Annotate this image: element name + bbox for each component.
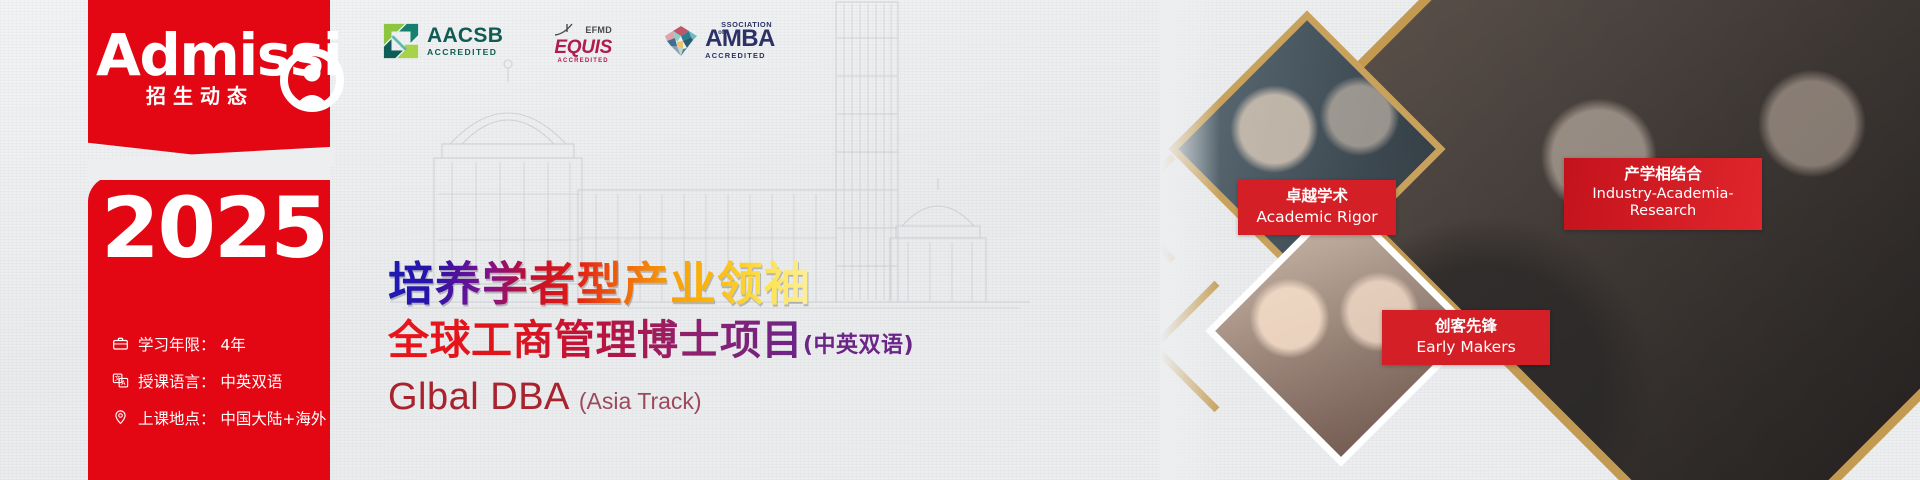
highlight-academic-rigor: 卓越学术 Academic Rigor (1238, 180, 1396, 235)
fact-location-text: 上课地点： 中国大陆+海外 (138, 407, 326, 429)
photo-collage: 卓越学术 Academic Rigor 产学相结合 Industry-Acade… (1160, 0, 1920, 480)
collage-left-fade (1160, 0, 1220, 480)
location-pin-icon (112, 409, 129, 426)
headline-program-en: Glbal DBA (Asia Track) (388, 375, 914, 423)
accreditation-equis: EFMD EQUIS ACCREDITED (547, 22, 619, 64)
aacsb-logo-icon (382, 22, 420, 60)
highlight-academic-rigor-cn: 卓越学术 (1252, 187, 1382, 206)
aacsb-status: ACCREDITED (427, 48, 503, 57)
accreditation-logos: AACSB ACCREDITED EFMD EQUIS ACCREDITED (382, 22, 775, 64)
highlight-early-makers-en: Early Makers (1396, 338, 1536, 357)
aacsb-name: AACSB (427, 25, 503, 46)
fact-language: 文 A 授课语言： 中英双语 (112, 362, 342, 399)
fact-location: 上课地点： 中国大陆+海外 (112, 399, 342, 436)
equis-status: ACCREDITED (558, 58, 609, 64)
year-label: 2025 (94, 186, 334, 270)
amba-association-label: SSOCIATION (721, 21, 772, 28)
fact-language-text: 授课语言： 中英双语 (138, 370, 282, 392)
amba-of-label: of (718, 30, 724, 36)
headline-slogan: 培养学者型产业领袖 (388, 258, 811, 310)
admission-lockup: Admissi 招生动态 (96, 26, 356, 126)
headline-program-cn: 全球工商管理博士项目(中英双语) (388, 316, 914, 370)
highlight-early-makers: 创客先锋 Early Makers (1382, 310, 1550, 365)
fact-duration: 学习年限： 4年 (112, 325, 342, 362)
amba-status: ACCREDITED (705, 52, 775, 59)
program-facts-list: 学习年限： 4年 文 A 授课语言： 中英双语 上课地点： 中国大陆+海外 (112, 325, 342, 436)
briefcase-icon (112, 335, 129, 352)
highlight-industry-academia-en: Industry-Academia-Research (1578, 186, 1748, 221)
accreditation-aacsb: AACSB ACCREDITED (382, 22, 503, 60)
headline-program-en-text: Glbal DBA (388, 376, 568, 418)
person-circle-icon (280, 48, 344, 112)
highlight-academic-rigor-en: Academic Rigor (1252, 208, 1382, 227)
amba-diamond-icon (663, 24, 699, 58)
highlight-early-makers-cn: 创客先锋 (1396, 317, 1536, 336)
accreditation-amba: SSOCIATION of AMBA ACCREDITED (663, 22, 775, 59)
language-icon: 文 A (112, 372, 129, 389)
highlight-industry-academia: 产学相结合 Industry-Academia-Research (1564, 158, 1762, 230)
highlight-industry-academia-cn: 产学相结合 (1578, 165, 1748, 184)
headline-program-en-track: (Asia Track) (579, 388, 702, 414)
efmd-label: EFMD (585, 25, 612, 35)
admission-chinese-label: 招生动态 (146, 80, 254, 109)
headline-program-cn-suffix: (中英双语) (803, 333, 914, 358)
amba-name: AMBA (705, 27, 775, 51)
equis-name: EQUIS (554, 38, 612, 58)
headline-block: 培养学者型产业领袖 全球工商管理博士项目(中英双语) Glbal DBA (As… (388, 258, 914, 423)
svg-text:A: A (121, 380, 126, 387)
fact-duration-text: 学习年限： 4年 (138, 333, 246, 355)
banner-root: Admissi 招生动态 2025 学习年限： 4年 文 A 授课语言： 中英 (0, 0, 1920, 480)
efmd-swoosh-icon (554, 23, 580, 37)
headline-program-cn-text: 全球工商管理博士项目 (388, 316, 803, 364)
